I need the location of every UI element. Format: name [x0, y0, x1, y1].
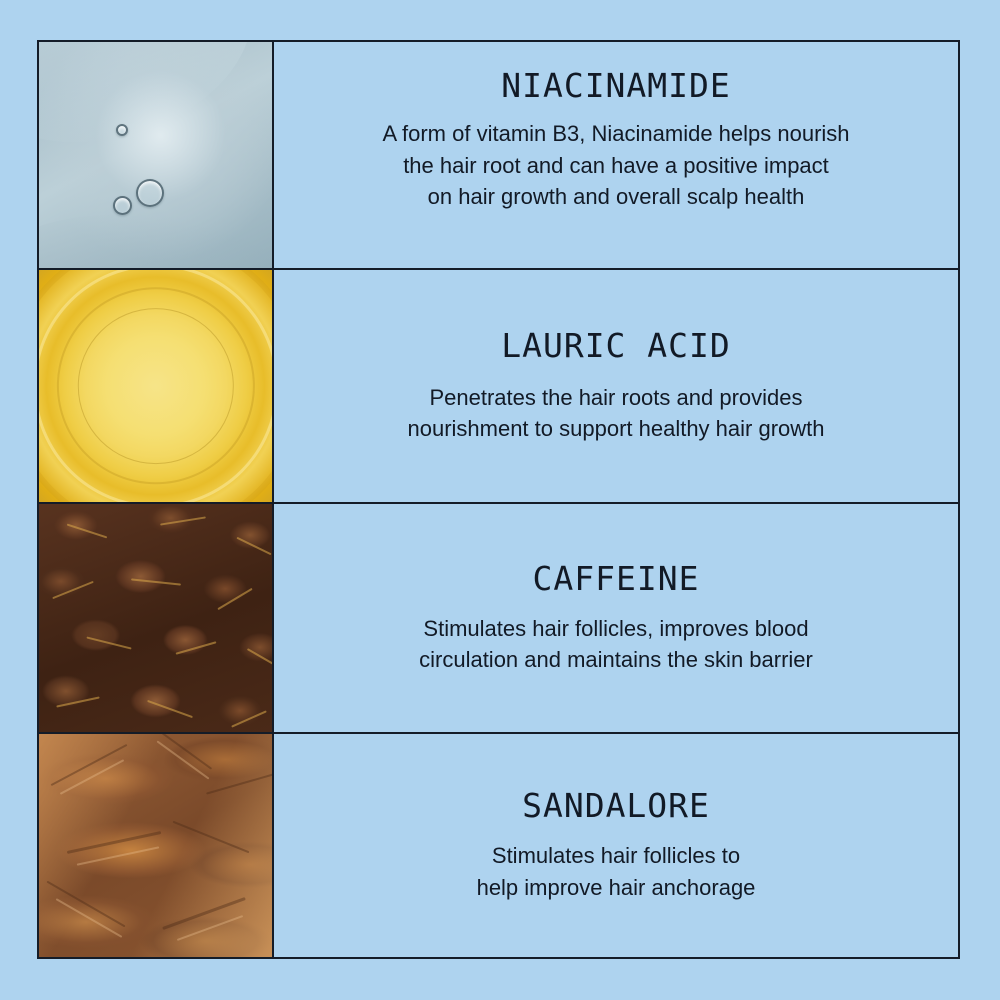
description-line: Stimulates hair follicles, improves bloo… [419, 613, 813, 644]
table-row: LAURIC ACID Penetrates the hair roots an… [39, 270, 958, 504]
ingredient-text-cell: NIACINAMIDE A form of vitamin B3, Niacin… [274, 42, 958, 268]
serum-liquid-photo [39, 42, 274, 268]
wood-grain-line [46, 880, 125, 927]
bean-crease [218, 588, 253, 610]
bean-crease [52, 581, 94, 599]
bubble-icon [113, 196, 132, 215]
description-line: Penetrates the hair roots and provides [407, 382, 824, 413]
ingredient-description: Penetrates the hair roots and provides n… [407, 382, 824, 444]
wood-grain-line [206, 774, 274, 795]
ingredient-description: Stimulates hair follicles, improves bloo… [419, 613, 813, 675]
ingredient-infographic: NIACINAMIDE A form of vitamin B3, Niacin… [0, 0, 1000, 1000]
ingredient-text-cell: LAURIC ACID Penetrates the hair roots an… [274, 270, 958, 502]
ingredient-image-cell [39, 504, 274, 732]
bean-crease [161, 517, 207, 526]
oil-ring [56, 287, 254, 484]
bubble-icon [116, 124, 128, 136]
ingredient-description: Stimulates hair follicles to help improv… [477, 840, 756, 902]
table-row: NIACINAMIDE A form of vitamin B3, Niacin… [39, 42, 958, 270]
description-line: A form of vitamin B3, Niacinamide helps … [382, 118, 849, 149]
bean-crease [67, 524, 108, 539]
oil-ring [77, 308, 233, 464]
description-line: nourishment to support healthy hair grow… [407, 413, 824, 444]
sandalwood-chips-photo [39, 734, 274, 957]
ingredient-text-cell: CAFFEINE Stimulates hair follicles, impr… [274, 504, 958, 732]
wood-grain-line [163, 897, 247, 930]
description-line: the hair root and can have a positive im… [382, 150, 849, 181]
bean-crease [147, 700, 193, 718]
ingredient-image-cell [39, 734, 274, 957]
table-row: SANDALORE Stimulates hair follicles to h… [39, 734, 958, 957]
bean-crease [237, 537, 272, 555]
description-line: circulation and maintains the skin barri… [419, 644, 813, 675]
table-row: CAFFEINE Stimulates hair follicles, impr… [39, 504, 958, 734]
ingredient-title: LAURIC ACID [501, 328, 731, 364]
ingredient-image-cell [39, 42, 274, 268]
ingredient-text-cell: SANDALORE Stimulates hair follicles to h… [274, 734, 958, 957]
bean-crease [131, 579, 181, 586]
ingredient-description: A form of vitamin B3, Niacinamide helps … [382, 118, 849, 212]
ingredient-title: SANDALORE [522, 788, 710, 824]
oil-ring [39, 270, 274, 502]
bean-crease [56, 696, 99, 707]
wood-grain-line [173, 821, 250, 854]
ingredient-image-cell [39, 270, 274, 502]
bean-crease [86, 637, 131, 650]
bean-crease [247, 648, 274, 668]
oil-ring [39, 270, 274, 502]
bean-crease [176, 642, 217, 655]
coffee-beans-photo [39, 504, 274, 732]
bean-crease [231, 710, 267, 727]
ingredient-table: NIACINAMIDE A form of vitamin B3, Niacin… [37, 40, 960, 959]
description-line: on hair growth and overall scalp health [382, 181, 849, 212]
golden-oil-photo [39, 270, 274, 502]
description-line: Stimulates hair follicles to [477, 840, 756, 871]
ingredient-title: CAFFEINE [533, 561, 700, 597]
wood-grain-line [60, 759, 125, 795]
bubble-icon [136, 179, 164, 207]
description-line: help improve hair anchorage [477, 872, 756, 903]
ingredient-title: NIACINAMIDE [501, 68, 731, 104]
